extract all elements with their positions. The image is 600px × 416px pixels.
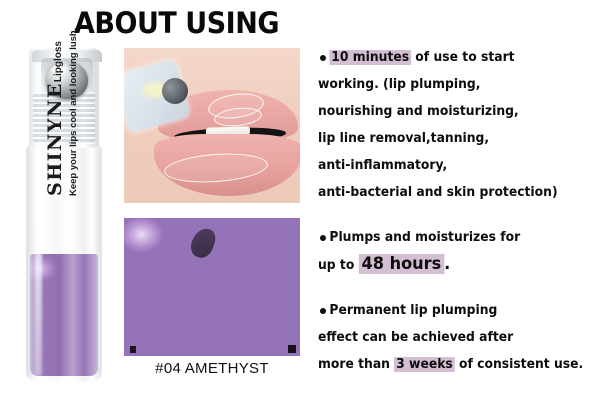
photo-corner-mark-left [130, 346, 136, 353]
photo-corner-mark-right [288, 345, 296, 353]
benefit-block-2: Plumps and moisturizes for up to 48 hour… [318, 224, 596, 279]
copy-text: of use to start [411, 50, 515, 65]
page-title: ABOUT USING [74, 6, 279, 40]
copy-line: Plumps and moisturizes for [318, 224, 582, 251]
shade-caption: #04 AMETHYST [124, 360, 300, 377]
copy-line: 10 minutes of use to start [318, 44, 582, 71]
dark-crystal-accent [188, 225, 218, 260]
copy-line: working. (lip plumping, [318, 71, 582, 98]
highlight-10-minutes: 10 minutes [329, 50, 411, 65]
benefit-block-3: Permanent lip plumping effect can be ach… [318, 297, 596, 378]
copy-line: anti-bacterial and skin protection) [318, 179, 582, 206]
copy-line: effect can be achieved after [318, 324, 582, 351]
amethyst-photo [124, 218, 300, 356]
copy-line: Permanent lip plumping [318, 297, 582, 324]
benefit-block-1: 10 minutes of use to start working. (lip… [318, 44, 596, 206]
product-type: Lipgloss [53, 41, 64, 82]
product-bottle-image: SHINYNELipgloss Keep your lips cool and … [26, 48, 102, 382]
copy-text: of consistent use. [455, 357, 583, 372]
benefits-copy: 10 minutes of use to start working. (lip… [318, 44, 596, 396]
highlight-3-weeks: 3 weeks [394, 357, 454, 372]
copy-line: nourishing and moisturizing, [318, 98, 582, 125]
bottle-highlight [35, 148, 42, 376]
copy-text: more than [318, 357, 394, 372]
lips-photo [124, 48, 300, 203]
copy-line: up to 48 hours. [318, 251, 582, 279]
highlight-48-hours: 48 hours [359, 254, 444, 274]
copy-line: more than 3 weeks of consistent use. [318, 351, 582, 378]
bottle-label-brand: SHINYNELipgloss [44, 26, 66, 196]
copy-line: lip line removal,tanning, [318, 125, 582, 152]
copy-line: anti-inflammatory, [318, 152, 582, 179]
copy-text: . [444, 254, 450, 274]
bottle-label-tagline: Keep your lips cool and looking lush. [68, 6, 79, 196]
copy-text: up to [318, 258, 359, 273]
brand-name: SHINYNE [44, 82, 66, 196]
